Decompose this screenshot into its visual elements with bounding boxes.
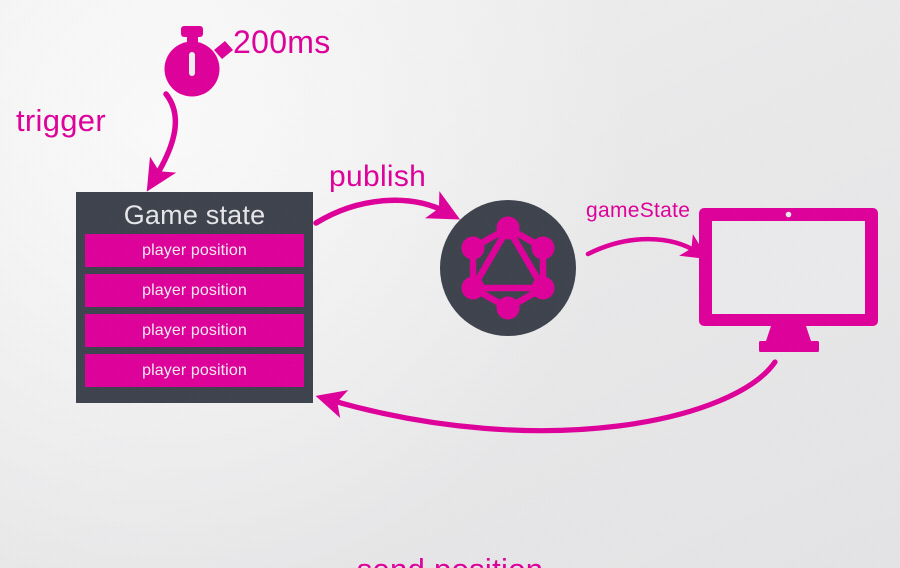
- player-position-row: player position: [85, 314, 304, 347]
- player-position-row: player position: [85, 274, 304, 307]
- gamestate-arrow: [588, 239, 697, 254]
- stopwatch-icon: [165, 26, 234, 97]
- player-position-label: player position: [142, 242, 247, 260]
- game-state-box: Game state player position player positi…: [76, 192, 313, 403]
- trigger-label: trigger: [16, 103, 106, 139]
- trigger-arrow: [155, 94, 175, 178]
- player-position-label: player position: [142, 282, 247, 300]
- publish-label: publish: [329, 160, 426, 194]
- graphql-logo-icon: [440, 200, 576, 336]
- timer-interval-label: 200ms: [233, 24, 331, 61]
- gamestate-field-label: gameState: [586, 199, 690, 223]
- player-position-label: player position: [142, 362, 247, 380]
- send-position-line-1: send position: [0, 548, 900, 568]
- send-position-arrow: [330, 362, 775, 431]
- game-state-title: Game state: [85, 198, 304, 234]
- player-position-row: player position: [85, 234, 304, 267]
- publish-arrow: [316, 200, 446, 223]
- player-position-label: player position: [142, 322, 247, 340]
- diagram-canvas: Game state player position player positi…: [0, 0, 900, 568]
- monitor-icon: [699, 208, 878, 352]
- player-position-row: player position: [85, 354, 304, 387]
- send-position-label: send position every 100ms: [0, 460, 900, 568]
